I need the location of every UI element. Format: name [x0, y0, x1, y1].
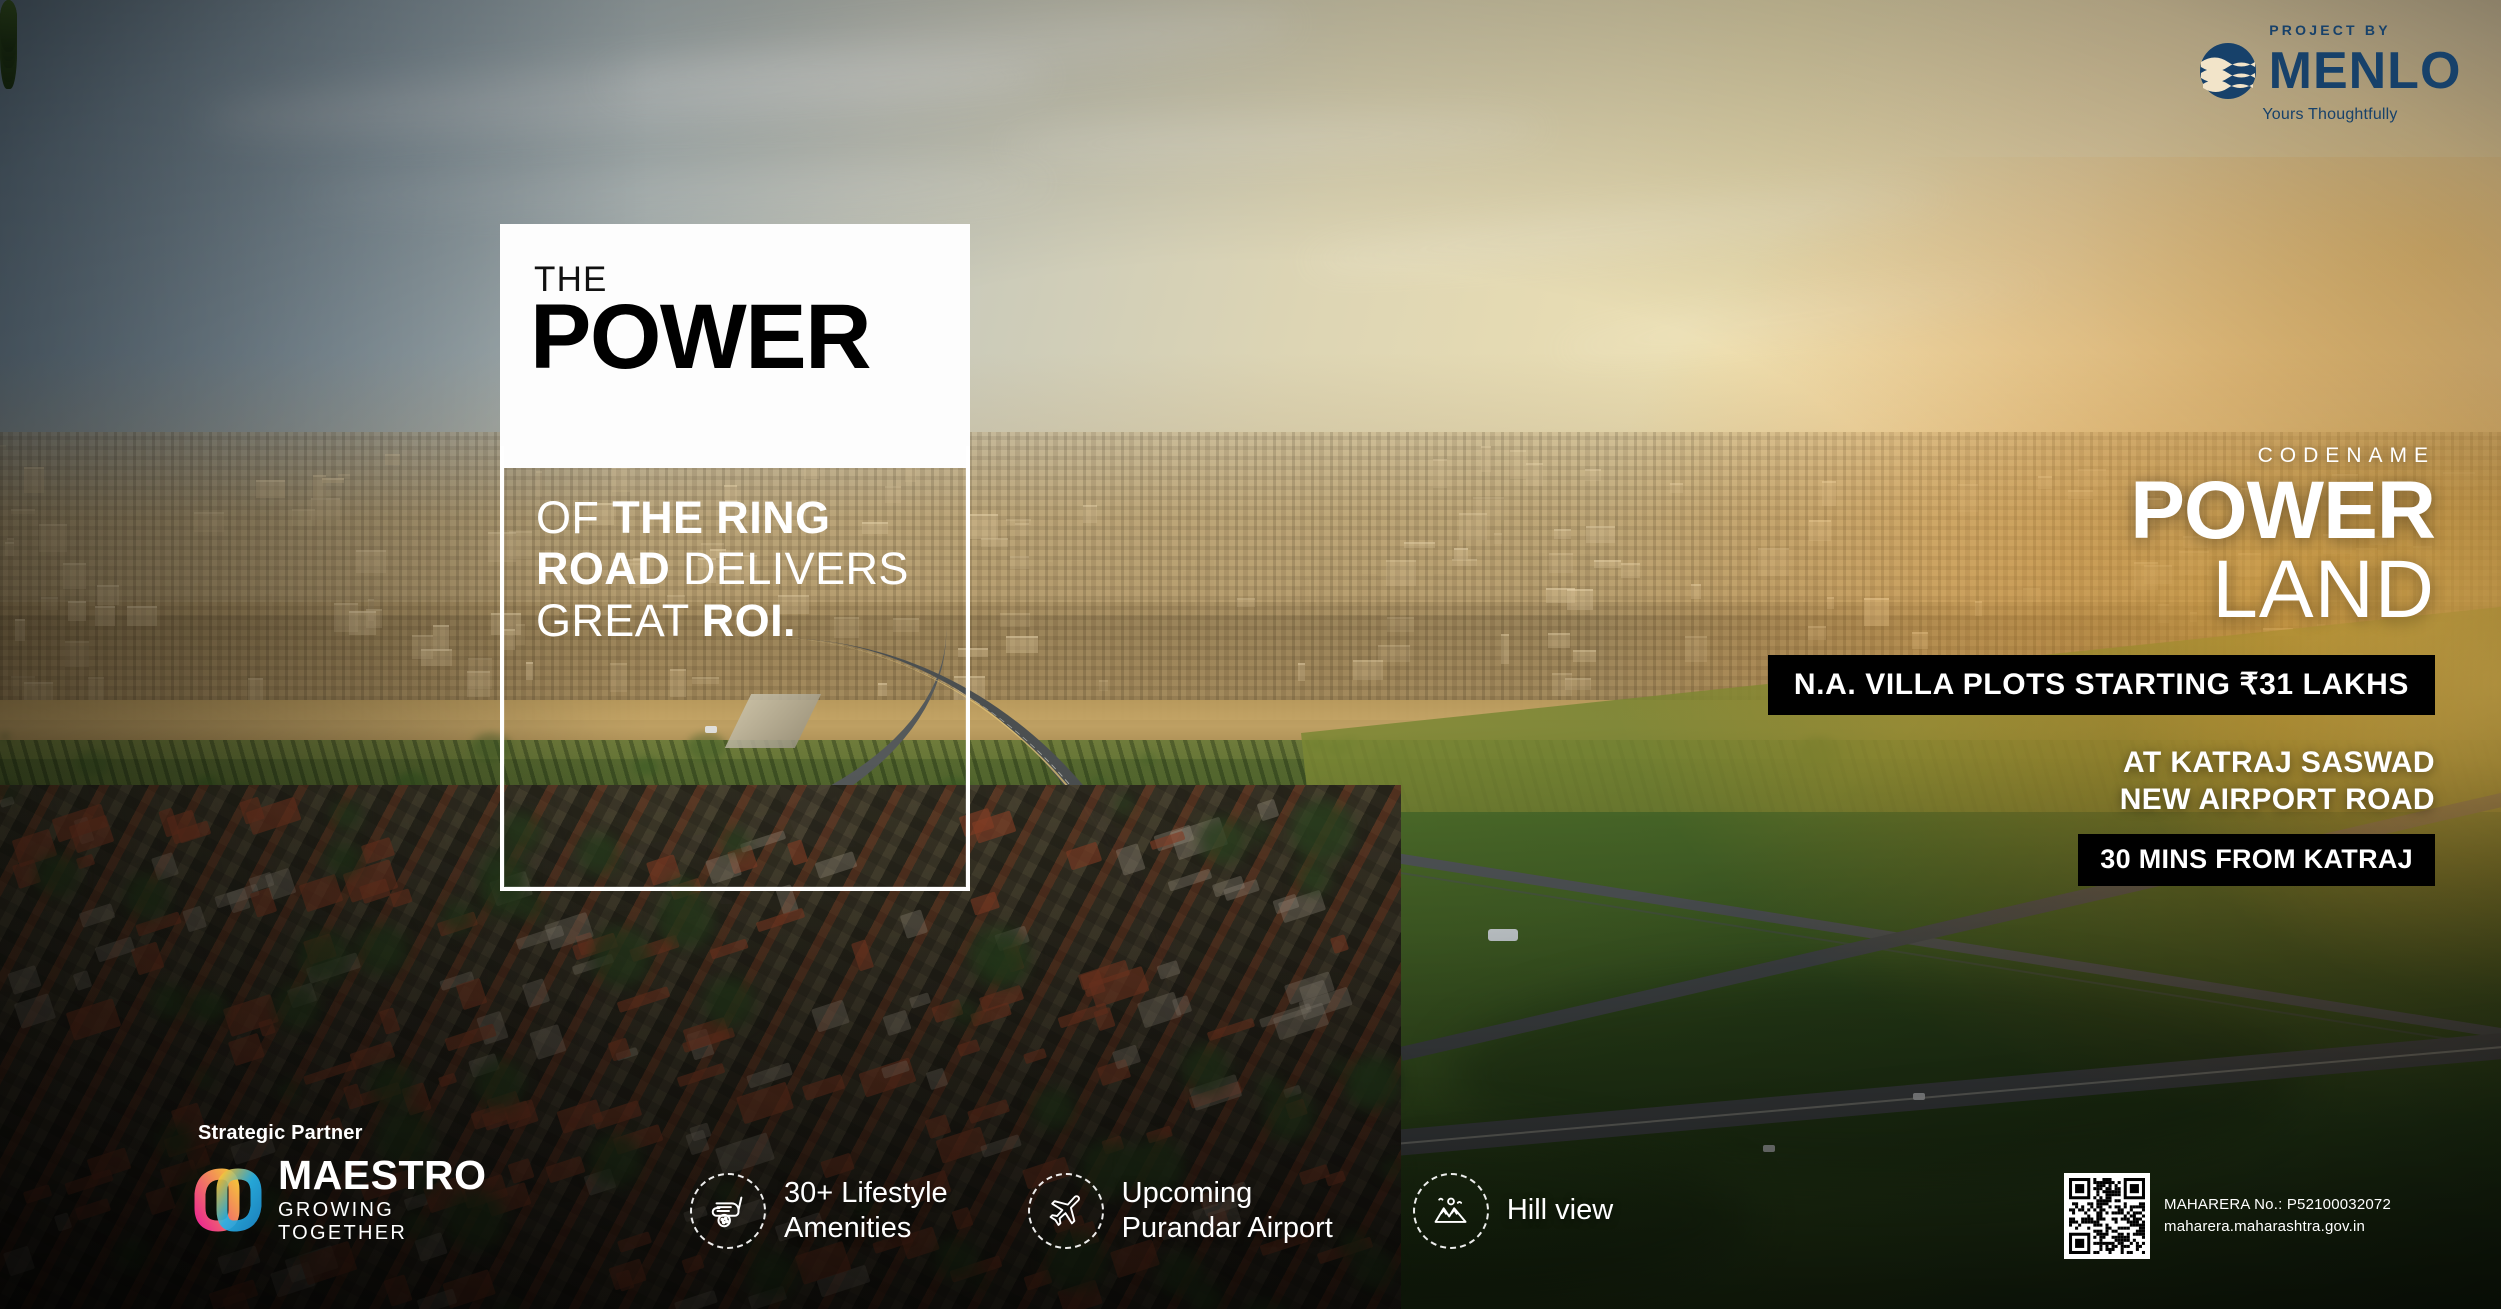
location-line-2: NEW AIRPORT ROAD: [1735, 782, 2435, 819]
menlo-wordmark: MENLO: [2269, 45, 2462, 97]
feature-item-amenities[interactable]: 30+ Lifestyle Amenities: [690, 1173, 948, 1249]
qr-code-icon[interactable]: [2064, 1173, 2150, 1259]
sub-prefix: OF: [536, 492, 612, 543]
mountain-hill-icon: [1413, 1173, 1489, 1249]
vehicle: [1763, 1145, 1775, 1152]
feature-list: 30+ Lifestyle Amenities Upcoming Puranda…: [690, 1173, 1613, 1249]
feature-item-hillview[interactable]: Hill view: [1413, 1173, 1613, 1249]
airplane-icon: [1028, 1173, 1104, 1249]
rera-website: maharera.maharashtra.gov.in: [2164, 1216, 2391, 1239]
location-lines: AT KATRAJ SASWAD NEW AIRPORT ROAD: [1735, 745, 2435, 818]
location-line-1: AT KATRAJ SASWAD: [1735, 745, 2435, 782]
project-name-light: LAND: [1735, 549, 2435, 631]
distance-banner: 30 MINS FROM KATRAJ: [2078, 834, 2435, 886]
feature-label: 30+ Lifestyle Amenities: [784, 1176, 948, 1247]
project-name-bold: POWER: [1735, 472, 2435, 549]
maestro-tagline: GROWING TOGETHER: [278, 1199, 522, 1245]
sub-bold-2: ROI.: [702, 595, 796, 646]
headline-power: POWER: [530, 292, 870, 382]
maestro-wordmark: MAESTRO GROWING TOGETHER: [278, 1155, 522, 1245]
vehicle: [1913, 1093, 1925, 1100]
price-banner: N.A. VILLA PLOTS STARTING ₹31 LAKHS: [1768, 655, 2435, 715]
advertisement-banner: PROJECT BY MENLO Yours Thoughtfully THE …: [0, 0, 2501, 1309]
menlo-logo[interactable]: PROJECT BY MENLO Yours Thoughtfully: [2205, 22, 2455, 124]
project-details: CODENAME POWER LAND N.A. VILLA PLOTS STA…: [1735, 444, 2435, 886]
feature-item-airport[interactable]: Upcoming Purandar Airport: [1028, 1173, 1333, 1249]
strategic-partner-label: Strategic Partner: [198, 1122, 522, 1145]
rera-number: MAHARERA No.: P52100032072: [2164, 1194, 2391, 1217]
menlo-tagline: Yours Thoughtfully: [2205, 106, 2455, 124]
strategic-partner[interactable]: Strategic Partner MAES: [192, 1122, 522, 1245]
golf-club-ball-icon: [690, 1173, 766, 1249]
feature-label: Hill view: [1507, 1193, 1613, 1228]
feature-label: Upcoming Purandar Airport: [1122, 1176, 1333, 1247]
headline-subline: OF THE RING ROAD DELIVERS GREAT ROI.: [536, 492, 936, 646]
bus: [1488, 929, 1518, 941]
menlo-wave-circle-icon: [2199, 42, 2257, 100]
project-by-label: PROJECT BY: [2205, 22, 2455, 38]
rera-block: MAHARERA No.: P52100032072 maharera.maha…: [2064, 1173, 2391, 1259]
maestro-infinity-knot-icon: [192, 1164, 264, 1236]
rera-text: MAHARERA No.: P52100032072 maharera.maha…: [2164, 1194, 2391, 1239]
maestro-name: MAESTRO: [278, 1152, 487, 1198]
headline-panel: THE POWER OF THE RING ROAD DELIVERS GREA…: [500, 224, 970, 891]
